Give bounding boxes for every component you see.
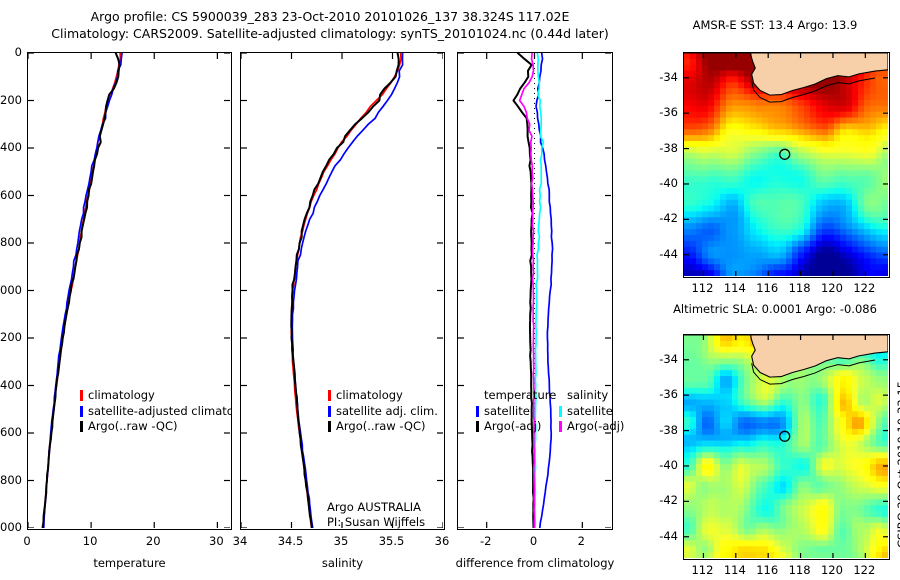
legend-swatch-salinity-argo [559, 421, 562, 432]
legend-item-argo: Argo(..raw -QC) [80, 419, 232, 435]
legend-item-temperature-argo: Argo(-adj) [476, 419, 556, 435]
sla-map-title: Altimetric SLA: 0.0001 Argo: -0.086 [655, 302, 895, 316]
axis-tick-label: -40 [652, 458, 678, 472]
axis-tick-label: 36 [419, 534, 465, 548]
axis-tick-label: 122 [844, 281, 884, 295]
axis-tick-label: -42 [652, 493, 678, 507]
axis-tick-label: -36 [652, 387, 678, 401]
axis-tick-label: 1800 [0, 473, 22, 487]
axis-tick-label: 1000 [0, 283, 22, 297]
salinity-panel[interactable] [240, 52, 445, 530]
legend-swatch-temperature-argo [476, 421, 479, 432]
salinity-axis-label: salinity [240, 556, 445, 570]
legend-swatch-climatology [80, 390, 83, 401]
temperature-legend-clip: climatology satellite-adjusted climatolo… [80, 388, 232, 438]
legend-swatch-satellite [80, 406, 83, 417]
temperature-axis-label: temperature [27, 556, 232, 570]
legend-swatch-satellite [328, 406, 331, 417]
axis-tick-label: 0 [511, 534, 557, 548]
difference-legend-temperature: temperature satellite Argo(-adj) [476, 388, 556, 435]
legend-heading-salinity: salinity [559, 388, 624, 404]
axis-tick-label: 0 [4, 534, 50, 548]
sla-map-panel[interactable] [683, 334, 890, 560]
legend-swatch-temperature-satellite [476, 406, 479, 417]
salinity-plot-area [241, 53, 443, 528]
credit-line1: Argo AUSTRALIA [327, 500, 425, 515]
temperature-plot-area [28, 53, 230, 528]
axis-tick-label: 2000 [0, 520, 22, 534]
axis-tick-label: -36 [652, 105, 678, 119]
axis-tick-label: -34 [652, 70, 678, 84]
legend-label-temperature-satellite: satellite [484, 404, 530, 420]
axis-tick-label: 800 [0, 235, 22, 249]
axis-tick-label: 200 [0, 93, 22, 107]
axis-tick-label: -42 [652, 211, 678, 225]
credit-block: Argo AUSTRALIA PI: Susan Wijffels [327, 500, 425, 530]
sst-map-panel[interactable] [683, 52, 890, 278]
axis-tick-label: -44 [652, 247, 678, 261]
legend-heading-temperature: temperature [476, 388, 556, 404]
legend-item-climatology: climatology [328, 388, 438, 404]
axis-tick-label: 34 [217, 534, 263, 548]
figure-title-line2: Climatology: CARS2009. Satellite-adjuste… [0, 25, 660, 42]
legend-label-satellite: satellite adj. clim. [336, 404, 438, 420]
axis-tick-label: 400 [0, 140, 22, 154]
credit-line2: PI: Susan Wijffels [327, 515, 425, 530]
legend-swatch-spacer [559, 390, 562, 401]
sst-map-area [684, 53, 888, 276]
legend-label-argo: Argo(..raw -QC) [88, 419, 178, 435]
legend-swatch-spacer [476, 390, 479, 401]
difference-plot-area [458, 53, 611, 528]
axis-tick-label: 10 [67, 534, 113, 548]
legend-label-temperature-argo: Argo(-adj) [484, 419, 541, 435]
legend-item-satellite: satellite adj. clim. [328, 404, 438, 420]
legend-label-climatology: climatology [88, 388, 155, 404]
axis-tick-label: 35.5 [369, 534, 415, 548]
axis-tick-label: 1600 [0, 425, 22, 439]
legend-swatch-argo [328, 421, 331, 432]
axis-tick-label: 35 [318, 534, 364, 548]
legend-item-argo: Argo(..raw -QC) [328, 419, 438, 435]
axis-tick-label: 2 [558, 534, 604, 548]
axis-tick-label: -44 [652, 529, 678, 543]
legend-item-climatology: climatology [80, 388, 232, 404]
axis-tick-label: -34 [652, 352, 678, 366]
axis-tick-label: -2 [463, 534, 509, 548]
legend-item-salinity-argo: Argo(-adj) [559, 419, 624, 435]
legend-label-salinity-argo: Argo(-adj) [567, 419, 624, 435]
difference-axis-label: difference from climatology [440, 556, 630, 570]
axis-tick-label: 1400 [0, 378, 22, 392]
axis-tick-label: 1200 [0, 330, 22, 344]
legend-label-satellite: satellite-adjusted climatology [88, 404, 232, 420]
axis-tick-label: 600 [0, 188, 22, 202]
legend-label-salinity-satellite: satellite [567, 404, 613, 420]
legend-swatch-climatology [328, 390, 331, 401]
legend-swatch-argo [80, 421, 83, 432]
legend-heading-label: salinity [567, 388, 608, 404]
sst-map-title: AMSR-E SST: 13.4 Argo: 13.9 [660, 18, 890, 32]
figure-title-line1: Argo profile: CS 5900039_283 23-Oct-2010… [0, 8, 660, 25]
difference-legend-salinity: salinity satellite Argo(-adj) [559, 388, 624, 435]
legend-label-argo: Argo(..raw -QC) [336, 419, 426, 435]
axis-tick-label: -38 [652, 141, 678, 155]
legend-label-climatology: climatology [336, 388, 403, 404]
axis-tick-label: 122 [844, 563, 884, 577]
legend-swatch-salinity-satellite [559, 406, 562, 417]
axis-tick-label: -40 [652, 176, 678, 190]
sla-map-area [684, 335, 888, 558]
difference-panel[interactable] [457, 52, 613, 530]
figure-title: Argo profile: CS 5900039_283 23-Oct-2010… [0, 8, 660, 42]
legend-item-satellite: satellite-adjusted climatology [80, 404, 232, 420]
temperature-legend: climatology satellite-adjusted climatolo… [80, 388, 232, 435]
csiro-timestamp: CSIRO 29-Oct-2010 10:33:15 [895, 381, 900, 548]
axis-tick-label: 0 [0, 45, 22, 59]
axis-tick-label: 20 [130, 534, 176, 548]
legend-heading-label: temperature [484, 388, 556, 404]
axis-tick-label: 34.5 [268, 534, 314, 548]
legend-item-salinity-satellite: satellite [559, 404, 624, 420]
axis-tick-label: -38 [652, 423, 678, 437]
temperature-panel[interactable] [27, 52, 232, 530]
salinity-legend: climatology satellite adj. clim. Argo(..… [328, 388, 438, 435]
legend-item-temperature-satellite: satellite [476, 404, 556, 420]
